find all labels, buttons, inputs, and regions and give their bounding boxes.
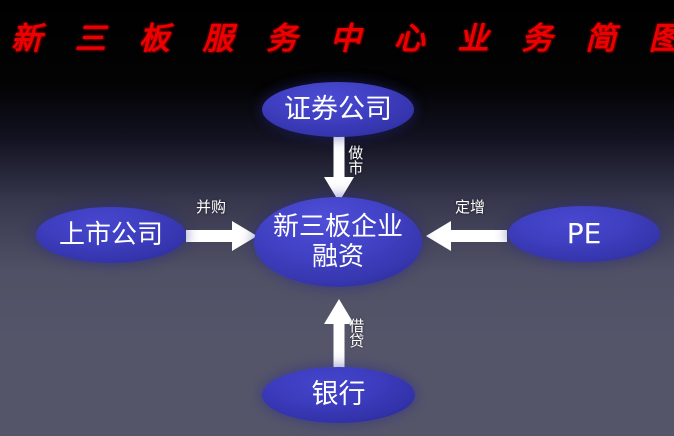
- page-title: 新 三 板 服 务 中 心 业 务 简 图: [0, 20, 674, 59]
- node-neeq-financing-line2: 融资: [312, 242, 364, 272]
- arrow-right-to-center: [425, 220, 507, 252]
- edge-label-left: 并购: [196, 200, 226, 215]
- node-neeq-financing-line1: 新三板企业: [273, 212, 403, 242]
- arrow-left-to-center: [186, 220, 258, 252]
- edge-label-bottom: 借贷: [348, 318, 363, 348]
- node-listed-company[interactable]: 上市公司: [36, 207, 186, 263]
- diagram-canvas: 新 三 板 服 务 中 心 业 务 简 图 做市 并购 定增 借贷 证券公司 上…: [0, 0, 674, 436]
- node-securities-company[interactable]: 证券公司: [262, 82, 414, 137]
- node-listed-company-label: 上市公司: [36, 220, 186, 250]
- edge-label-top: 做市: [347, 145, 362, 175]
- node-pe-label: PE: [508, 218, 660, 250]
- node-bank-label: 银行: [262, 379, 415, 410]
- node-neeq-financing-label: 新三板企业 融资: [254, 212, 422, 272]
- node-bank[interactable]: 银行: [262, 367, 415, 423]
- edge-label-right: 定增: [455, 200, 485, 215]
- node-neeq-financing[interactable]: 新三板企业 融资: [254, 197, 422, 287]
- node-securities-company-label: 证券公司: [262, 94, 414, 125]
- node-pe[interactable]: PE: [508, 206, 660, 262]
